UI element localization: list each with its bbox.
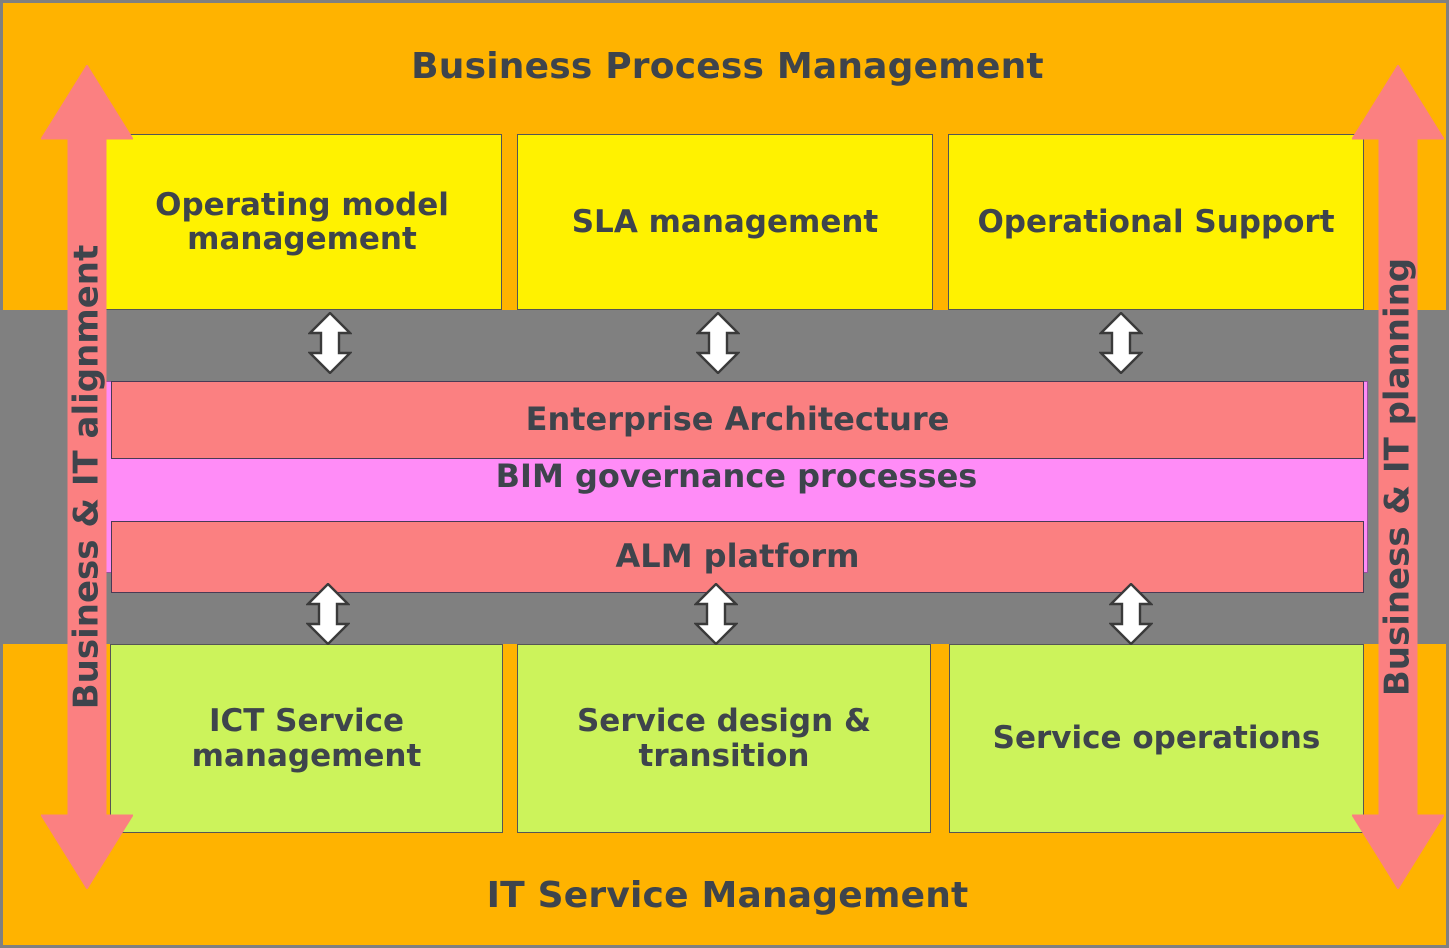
box-service-design-transition[interactable]: Service design & transition bbox=[517, 644, 931, 833]
page-title-bottom: IT Service Management bbox=[3, 876, 1449, 916]
double-headed-vertical-arrow-icon bbox=[306, 583, 350, 645]
double-headed-vertical-arrow-icon bbox=[1109, 583, 1153, 645]
double-headed-vertical-arrow-icon bbox=[694, 583, 738, 645]
double-headed-vertical-arrow-icon bbox=[1099, 312, 1143, 374]
page-title-top: Business Process Management bbox=[3, 47, 1449, 87]
band-enterprise-architecture[interactable]: Enterprise Architecture bbox=[111, 381, 1364, 459]
arrow-right-label: Business & IT planning bbox=[1379, 258, 1416, 696]
box-ict-service-management[interactable]: ICT Service management bbox=[110, 644, 503, 833]
double-headed-vertical-arrow-icon bbox=[308, 312, 352, 374]
box-operating-model-management[interactable]: Operating model management bbox=[102, 134, 502, 310]
bpm-itsm-diagram: Business Process Management IT Service M… bbox=[0, 0, 1449, 948]
arrow-business-it-alignment[interactable]: Business & IT alignment bbox=[41, 65, 133, 889]
box-sla-management[interactable]: SLA management bbox=[517, 134, 933, 310]
box-operational-support[interactable]: Operational Support bbox=[948, 134, 1364, 310]
box-service-operations[interactable]: Service operations bbox=[949, 644, 1364, 833]
double-headed-vertical-arrow-icon bbox=[696, 312, 740, 374]
arrow-left-label: Business & IT alignment bbox=[68, 245, 105, 710]
arrow-business-it-planning[interactable]: Business & IT planning bbox=[1352, 65, 1444, 889]
